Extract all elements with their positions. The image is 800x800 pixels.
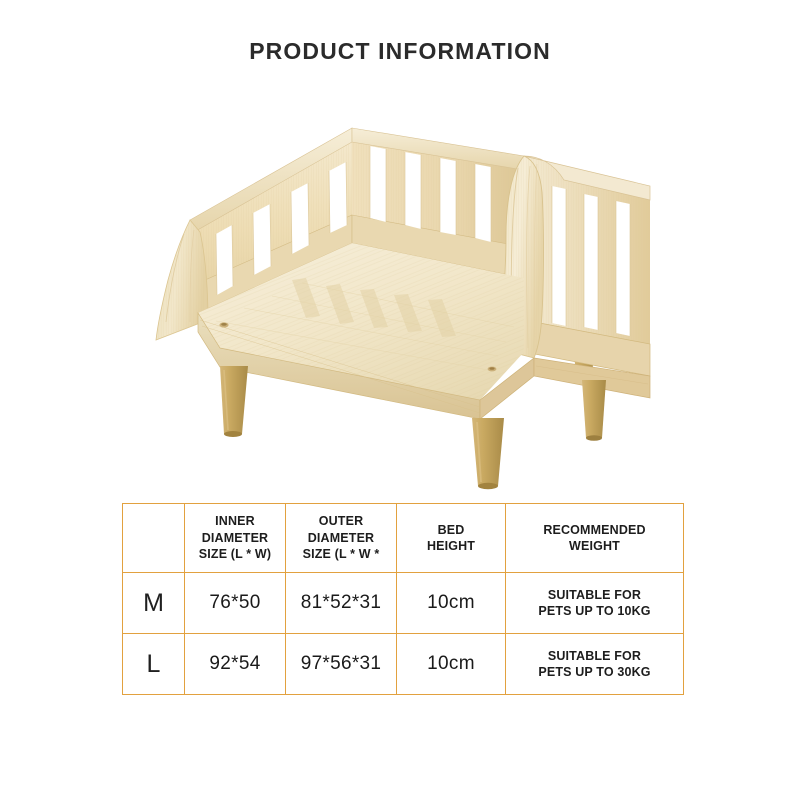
size-label-m: M [143, 589, 164, 617]
page-title: PRODUCT INFORMATION [0, 38, 800, 65]
inner-value-l: 92*54 [209, 653, 260, 674]
size-label-l: L [147, 650, 161, 678]
table-row: L 92*54 97*56*31 10cm SUITABLE FOR PETS … [123, 634, 684, 695]
cell-size-l: L [123, 634, 185, 695]
header-height-line1: BED [438, 523, 465, 537]
weight-l-line1: SUITABLE FOR [548, 649, 641, 663]
header-weight-line2: WEIGHT [569, 539, 620, 553]
cell-outer-m: 81*52*31 [286, 573, 397, 634]
header-weight-line1: RECOMMENDED [543, 523, 645, 537]
bed-leg-front-right [472, 418, 504, 489]
spec-table-container: INNER DIAMETER SIZE (L * W) OUTER DIAMET… [122, 503, 678, 695]
cell-size-m: M [123, 573, 185, 634]
weight-m-line2: PETS UP TO 10KG [538, 604, 650, 618]
table-row: M 76*50 81*52*31 10cm SUITABLE FOR PETS … [123, 573, 684, 634]
header-cell-size [123, 504, 185, 573]
header-inner-line3: SIZE (L * W) [199, 547, 271, 561]
header-cell-bed-height: BED HEIGHT [397, 504, 506, 573]
bed-leg-front-left [220, 366, 248, 437]
size-specification-table: INNER DIAMETER SIZE (L * W) OUTER DIAMET… [122, 503, 684, 695]
header-inner-line1: INNER [215, 514, 255, 528]
cell-outer-l: 97*56*31 [286, 634, 397, 695]
header-outer-line2: DIAMETER [308, 531, 374, 545]
inner-value-m: 76*50 [209, 592, 260, 613]
header-cell-outer-diameter: OUTER DIAMETER SIZE (L * W * [286, 504, 397, 573]
wooden-pet-bed-illustration [120, 108, 680, 490]
header-outer-line3: SIZE (L * W * [303, 547, 380, 561]
cell-weight-m: SUITABLE FOR PETS UP TO 10KG [506, 573, 684, 634]
height-value-m: 10cm [427, 592, 475, 613]
header-cell-recommended-weight: RECOMMENDED WEIGHT [506, 504, 684, 573]
outer-value-l: 97*56*31 [301, 653, 382, 674]
header-outer-line1: OUTER [319, 514, 364, 528]
bed-leg-rear-left [582, 380, 606, 441]
cell-weight-l: SUITABLE FOR PETS UP TO 30KG [506, 634, 684, 695]
cell-inner-l: 92*54 [185, 634, 286, 695]
cell-height-l: 10cm [397, 634, 506, 695]
outer-value-m: 81*52*31 [301, 592, 382, 613]
weight-m-line1: SUITABLE FOR [548, 588, 641, 602]
header-inner-line2: DIAMETER [202, 531, 268, 545]
cell-height-m: 10cm [397, 573, 506, 634]
header-cell-inner-diameter: INNER DIAMETER SIZE (L * W) [185, 504, 286, 573]
table-header-row: INNER DIAMETER SIZE (L * W) OUTER DIAMET… [123, 504, 684, 573]
height-value-l: 10cm [427, 653, 475, 674]
weight-l-line2: PETS UP TO 30KG [538, 665, 650, 679]
cell-inner-m: 76*50 [185, 573, 286, 634]
product-image-container [120, 108, 680, 490]
header-height-line2: HEIGHT [427, 539, 475, 553]
